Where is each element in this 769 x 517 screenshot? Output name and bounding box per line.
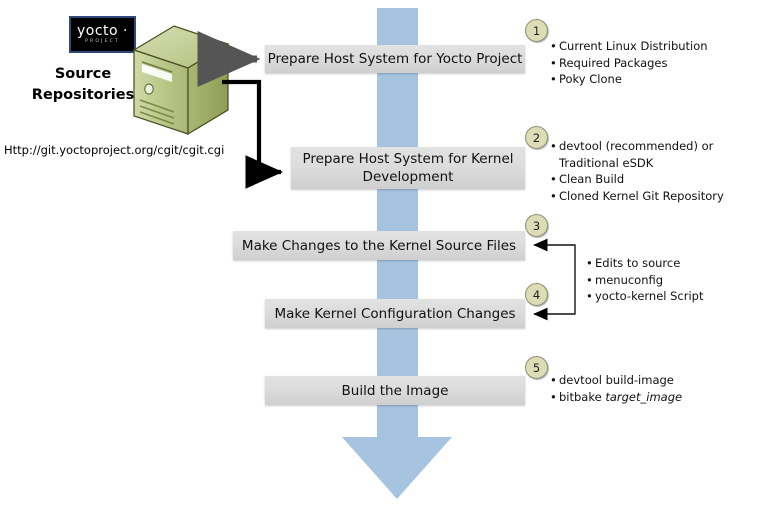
step-number-2: 2 [525, 126, 548, 149]
bullet-dot-icon: • [550, 71, 559, 88]
list-item: •bitbake target_image [550, 389, 765, 406]
step-number-4: 4 [525, 283, 548, 306]
bitbake-target-image-arg: target_image [605, 390, 682, 404]
bullet-dot-icon: • [586, 272, 595, 289]
list-item: •Poky Clone [550, 71, 765, 88]
bullet-list-step3-step4: •Edits to source •menuconfig •yocto-kern… [586, 255, 766, 305]
bullet-list-step2: •devtool (recommended) or Traditional eS… [550, 138, 768, 204]
list-item: •Required Packages [550, 55, 765, 72]
process-box-step4[interactable]: Make Kernel Configuration Changes [265, 299, 525, 328]
list-item: •devtool build-image [550, 372, 765, 389]
bullet-dot-icon: • [550, 171, 559, 188]
bullet-list-step5: •devtool build-image •bitbake target_ima… [550, 372, 765, 405]
step-number-3: 3 [525, 214, 548, 237]
step-number-5: 5 [525, 356, 548, 379]
list-item: •menuconfig [586, 272, 766, 289]
process-box-step1[interactable]: Prepare Host System for Yocto Project [265, 45, 525, 73]
process-box-step5[interactable]: Build the Image [265, 376, 525, 405]
bullet-dot-icon: • [550, 372, 559, 389]
list-item: •Cloned Kernel Git Repository [550, 188, 768, 205]
process-box-step3[interactable]: Make Changes to the Kernel Source Files [233, 231, 525, 260]
bullet-dot-icon: • [586, 255, 595, 272]
bullet-dot-icon: • [550, 138, 559, 155]
process-box-step2[interactable]: Prepare Host System for Kernel Developme… [291, 147, 525, 189]
bullet-dot-icon: • [550, 188, 559, 205]
bullet-dot-icon: • [550, 38, 559, 55]
list-item: •Edits to source [586, 255, 766, 272]
list-item: •devtool (recommended) or Traditional eS… [550, 138, 768, 171]
bullet-list-step1: •Current Linux Distribution •Required Pa… [550, 38, 765, 88]
list-item: •Current Linux Distribution [550, 38, 765, 55]
list-item: •Clean Build [550, 171, 768, 188]
step-number-1: 1 [525, 19, 548, 42]
bullet-dot-icon: • [586, 288, 595, 305]
bitbake-command-prefix: bitbake [559, 390, 605, 404]
bullet-dot-icon: • [550, 389, 559, 406]
arrow-server-to-step2 [222, 82, 281, 172]
bullet-dot-icon: • [550, 55, 559, 72]
list-item: •yocto-kernel Script [586, 288, 766, 305]
